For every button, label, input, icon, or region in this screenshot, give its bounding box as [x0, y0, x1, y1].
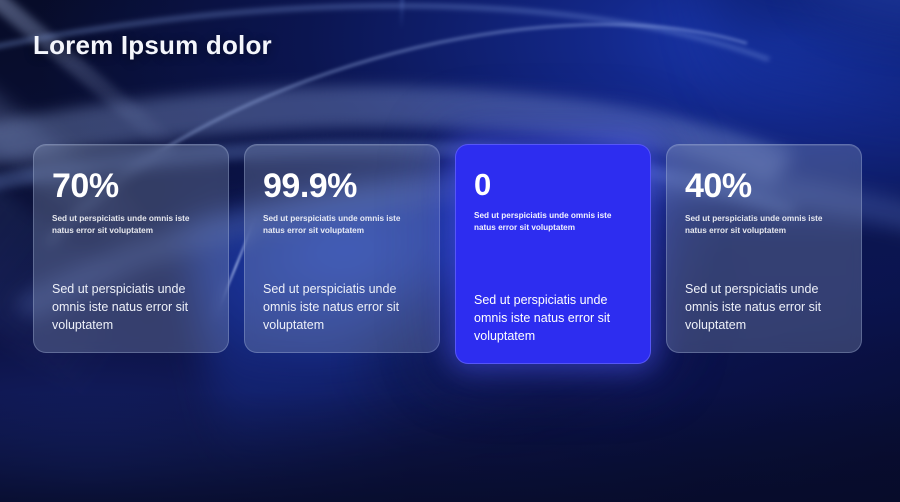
- stat-card-highlighted[interactable]: 0 Sed ut perspiciatis unde omnis iste na…: [455, 144, 651, 364]
- presentation-slide: Lorem Ipsum dolor 70% Sed ut perspiciati…: [0, 0, 900, 502]
- stat-description: Sed ut perspiciatis unde omnis iste natu…: [263, 280, 413, 334]
- stat-caption: Sed ut perspiciatis unde omnis iste natu…: [52, 213, 204, 237]
- stat-caption: Sed ut perspiciatis unde omnis iste natu…: [263, 213, 415, 237]
- page-title: Lorem Ipsum dolor: [33, 30, 272, 61]
- stat-card[interactable]: 99.9% Sed ut perspiciatis unde omnis ist…: [244, 144, 440, 353]
- stat-card[interactable]: 40% Sed ut perspiciatis unde omnis iste …: [666, 144, 862, 353]
- stat-card-row: 70% Sed ut perspiciatis unde omnis iste …: [33, 144, 867, 364]
- stat-value: 0: [474, 169, 632, 200]
- stat-value: 70%: [52, 169, 210, 203]
- stat-caption: Sed ut perspiciatis unde omnis iste natu…: [685, 213, 837, 237]
- stat-value: 99.9%: [263, 169, 421, 203]
- stat-value: 40%: [685, 169, 843, 203]
- top-right-blue-highlight: [800, 0, 900, 49]
- stat-caption: Sed ut perspiciatis unde omnis iste natu…: [474, 210, 626, 234]
- stat-description: Sed ut perspiciatis unde omnis iste natu…: [685, 280, 835, 334]
- stat-card[interactable]: 70% Sed ut perspiciatis unde omnis iste …: [33, 144, 229, 353]
- stat-description: Sed ut perspiciatis unde omnis iste natu…: [52, 280, 202, 334]
- bottom-vignette: [0, 392, 900, 502]
- stat-description: Sed ut perspiciatis unde omnis iste natu…: [474, 291, 624, 345]
